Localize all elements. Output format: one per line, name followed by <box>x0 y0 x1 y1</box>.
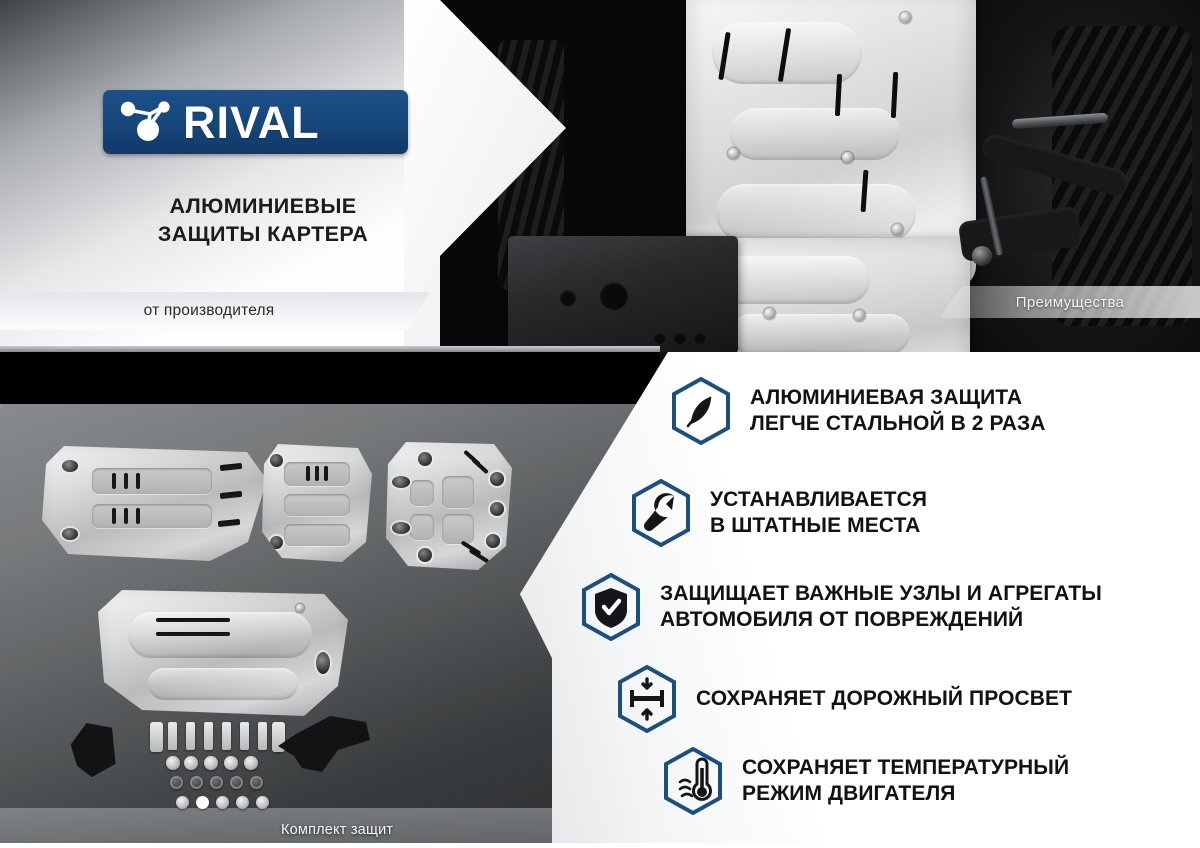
skid-plate-main <box>98 590 348 716</box>
advantage-5-line-2: РЕЖИМ ДВИГАТЕЛЯ <box>742 781 1069 807</box>
headline-line-2: ЗАЩИТЫ КАРТЕРА <box>103 220 423 248</box>
advantage-text-3: ЗАЩИЩАЕТ ВАЖНЫЕ УЗЛЫ И АГРЕГАТЫ АВТОМОБИ… <box>660 581 1102 632</box>
advantage-5-line-1: СОХРАНЯЕТ ТЕМПЕРАТУРНЫЙ <box>742 755 1069 781</box>
advantage-item-1: АЛЮМИНИЕВАЯ ЗАЩИТА ЛЕГЧЕ СТАЛЬНОЙ В 2 РА… <box>670 376 1046 446</box>
thermometer-icon <box>662 746 724 816</box>
advantage-text-4: СОХРАНЯЕТ ДОРОЖНЫЙ ПРОСВЕТ <box>696 686 1072 712</box>
subtitle-text: от производителя <box>144 302 287 320</box>
wrench-icon <box>630 478 692 548</box>
advantage-item-5: СОХРАНЯЕТ ТЕМПЕРАТУРНЫЙ РЕЖИМ ДВИГАТЕЛЯ <box>662 746 1069 816</box>
advantage-text-1: АЛЮМИНИЕВАЯ ЗАЩИТА ЛЕГЧЕ СТАЛЬНОЙ В 2 РА… <box>750 385 1046 436</box>
link-bushing <box>972 246 992 266</box>
poster-canvas: Преимущества RIVAL АЛЮМИНИЕВЫЕ ЗАЩИТЫ КА… <box>0 0 1200 848</box>
advantage-2-line-2: В ШТАТНЫЕ МЕСТА <box>710 513 927 539</box>
advantage-3-line-2: АВТОМОБИЛЯ ОТ ПОВРЕЖДЕНИЙ <box>660 607 1102 633</box>
advantage-text-5: СОХРАНЯЕТ ТЕМПЕРАТУРНЫЙ РЕЖИМ ДВИГАТЕЛЯ <box>742 755 1069 806</box>
advantage-3-line-1: ЗАЩИЩАЕТ ВАЖНЫЕ УЗЛЫ И АГРЕГАТЫ <box>660 581 1102 607</box>
advantage-2-line-1: УСТАНАВЛИВАЕТСЯ <box>710 487 927 513</box>
rival-molecule-icon <box>117 97 179 147</box>
undercarriage-photo: Преимущества <box>420 0 1200 352</box>
advantage-1-line-1: АЛЮМИНИЕВАЯ ЗАЩИТА <box>750 385 1046 411</box>
callout-kit-label: Комплект защит <box>281 822 393 838</box>
skid-plate-kit-3 <box>386 442 512 570</box>
ground-clearance-icon <box>616 664 678 734</box>
feather-icon <box>670 376 732 446</box>
rival-logo-plate: RIVAL <box>103 90 408 154</box>
bottom-frame-border <box>0 843 1200 848</box>
advantages-list: АЛЮМИНИЕВАЯ ЗАЩИТА ЛЕГЧЕ СТАЛЬНОЙ В 2 РА… <box>630 360 1190 830</box>
mounting-bracket-left <box>67 718 121 780</box>
rival-wordmark: RIVAL <box>183 100 320 145</box>
advantage-item-3: ЗАЩИЩАЕТ ВАЖНЫЕ УЗЛЫ И АГРЕГАТЫ АВТОМОБИ… <box>580 572 1102 642</box>
black-separator-band <box>0 352 660 404</box>
skid-plate-kit-2 <box>262 444 372 562</box>
advantage-1-line-2: ЛЕГЧЕ СТАЛЬНОЙ В 2 РАЗА <box>750 411 1046 437</box>
headline-line-1: АЛЮМИНИЕВЫЕ <box>103 192 423 220</box>
subtitle-banner: от производителя <box>0 292 430 330</box>
advantage-item-2: УСТАНАВЛИВАЕТСЯ В ШТАТНЫЕ МЕСТА <box>630 478 927 548</box>
skid-plate-kit-1 <box>42 446 267 561</box>
page-title: АЛЮМИНИЕВЫЕ ЗАЩИТЫ КАРТЕРА <box>103 192 423 249</box>
mounting-bracket-right <box>278 716 370 772</box>
advantage-4-line-1: СОХРАНЯЕТ ДОРОЖНЫЙ ПРОСВЕТ <box>696 686 1072 712</box>
advantage-item-4: СОХРАНЯЕТ ДОРОЖНЫЙ ПРОСВЕТ <box>616 664 1072 734</box>
chassis-box <box>508 236 738 352</box>
shield-check-icon <box>580 572 642 642</box>
advantage-text-2: УСТАНАВЛИВАЕТСЯ В ШТАТНЫЕ МЕСТА <box>710 487 927 538</box>
